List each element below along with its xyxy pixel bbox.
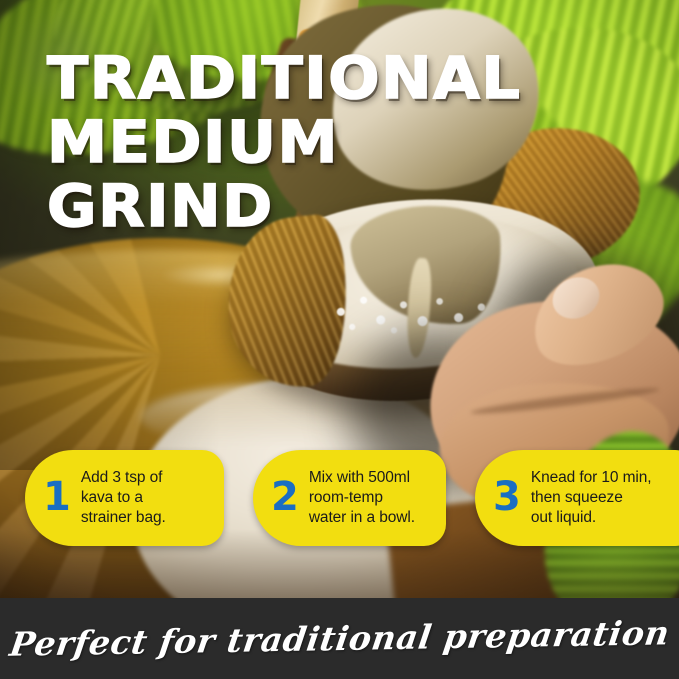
steps-row: 1 Add 3 tsp of kava to a strainer bag. 2… bbox=[25, 450, 679, 546]
step-text-1: Add 3 tsp of kava to a strainer bag. bbox=[81, 468, 166, 528]
bottom-banner: Perfect for traditional preparation bbox=[0, 598, 679, 679]
step-card-2[interactable]: 2 Mix with 500ml room-temp water in a bo… bbox=[253, 450, 446, 546]
step-card-3[interactable]: 3 Knead for 10 min, then squeeze out liq… bbox=[475, 450, 679, 546]
page-title: TRADITIONAL MEDIUM GRIND bbox=[47, 46, 588, 238]
step-number-1: 1 bbox=[43, 477, 71, 519]
promo-image-canvas: TRADITIONAL MEDIUM GRIND 1 Add 3 tsp of … bbox=[0, 0, 679, 679]
step-number-2: 2 bbox=[271, 477, 299, 519]
step-number-3: 3 bbox=[493, 477, 521, 519]
banner-tagline: Perfect for traditional preparation bbox=[7, 613, 672, 663]
step-text-3: Knead for 10 min, then squeeze out liqui… bbox=[531, 468, 652, 528]
step-text-2: Mix with 500ml room-temp water in a bowl… bbox=[309, 468, 415, 528]
step-card-1[interactable]: 1 Add 3 tsp of kava to a strainer bag. bbox=[25, 450, 224, 546]
